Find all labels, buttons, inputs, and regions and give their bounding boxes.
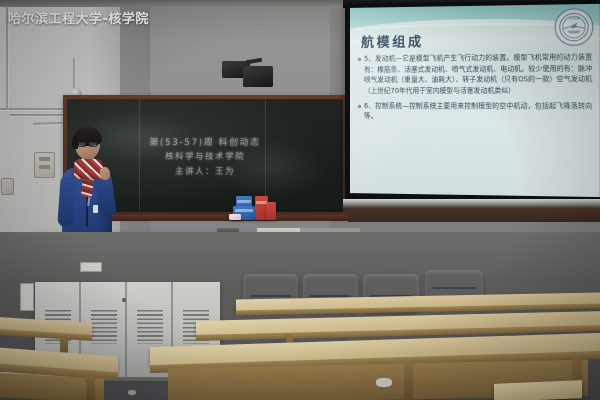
slide-bullet-item: 5、发动机—它是模型飞机产生飞行动力的装置。模型飞机常用的动力装置有：橡筋条、活…	[358, 52, 592, 97]
bullet-dot-icon	[358, 105, 361, 108]
classroom-scene: 第(53-57)周 科创动态 核科学与技术学院 主讲人：王为 HARBIN	[0, 0, 600, 400]
slide-bullet-item: 6、控制系统—控制系统主要用来控制模型的空中机动，包括起飞降落转向等。	[358, 101, 592, 123]
university-emblem-icon: HARBIN	[555, 8, 594, 46]
slide-bullet-body: 发动机—它是模型飞机产生飞行动力的装置。模型飞机常用的动力装置有：橡筋条、活塞式…	[364, 53, 592, 95]
slide-bullet-marker: 5、	[364, 55, 375, 63]
ledge-box-red-small	[266, 202, 276, 220]
slide-bullet-text: 5、发动机—它是模型飞机产生飞行动力的装置。模型飞机常用的动力装置有：橡筋条、活…	[364, 52, 592, 97]
screen-bottom-bar	[343, 199, 600, 208]
desk-leg	[404, 362, 413, 400]
projection-screen: HARBIN 航模组成 5、发动机—它是模型飞机产生飞行动力的装置。模型飞机常用…	[345, 0, 600, 204]
presenter-scarf	[74, 159, 103, 179]
bullet-dot-icon	[358, 58, 361, 61]
presenter	[56, 123, 118, 241]
slide-body: 5、发动机—它是模型飞机产生飞行动力的装置。模型飞机常用的动力装置有：橡筋条、活…	[358, 52, 592, 127]
ledge-box-white	[229, 214, 241, 220]
watermark-text: 哈尔滨工程大学-核学院	[8, 8, 149, 27]
slide-title: 航模组成	[361, 31, 424, 51]
locker-vent	[137, 310, 163, 344]
locker-lock[interactable]	[122, 298, 126, 302]
wall-notice	[20, 283, 34, 311]
slide-bullet-body: 控制系统—控制系统主要用来控制模型的空中机动，包括起飞降落转向等。	[364, 102, 592, 121]
wall-camera-icon	[243, 66, 273, 87]
presentation-slide: HARBIN 航模组成 5、发动机—它是模型飞机产生飞行动力的装置。模型飞机常用…	[350, 4, 600, 197]
wall-notice	[80, 262, 102, 272]
svg-text:HARBIN: HARBIN	[569, 17, 579, 20]
wall-socket[interactable]	[1, 178, 14, 195]
front-bench-top	[494, 380, 582, 400]
slide-bullet-text: 6、控制系统—控制系统主要用来控制模型的空中机动，包括起飞降落转向等。	[364, 101, 592, 123]
slide-bullet-marker: 6、	[364, 102, 375, 110]
light-switch-panel[interactable]	[34, 152, 55, 178]
presenter-glasses-icon	[78, 142, 98, 148]
wall-trim-strip	[348, 208, 600, 222]
floor-litter	[376, 378, 392, 387]
locker-vent	[91, 310, 117, 344]
presenter-badge	[93, 205, 98, 213]
floor-litter	[128, 390, 136, 395]
locker-seam	[125, 282, 127, 377]
desk-leg	[86, 374, 95, 400]
